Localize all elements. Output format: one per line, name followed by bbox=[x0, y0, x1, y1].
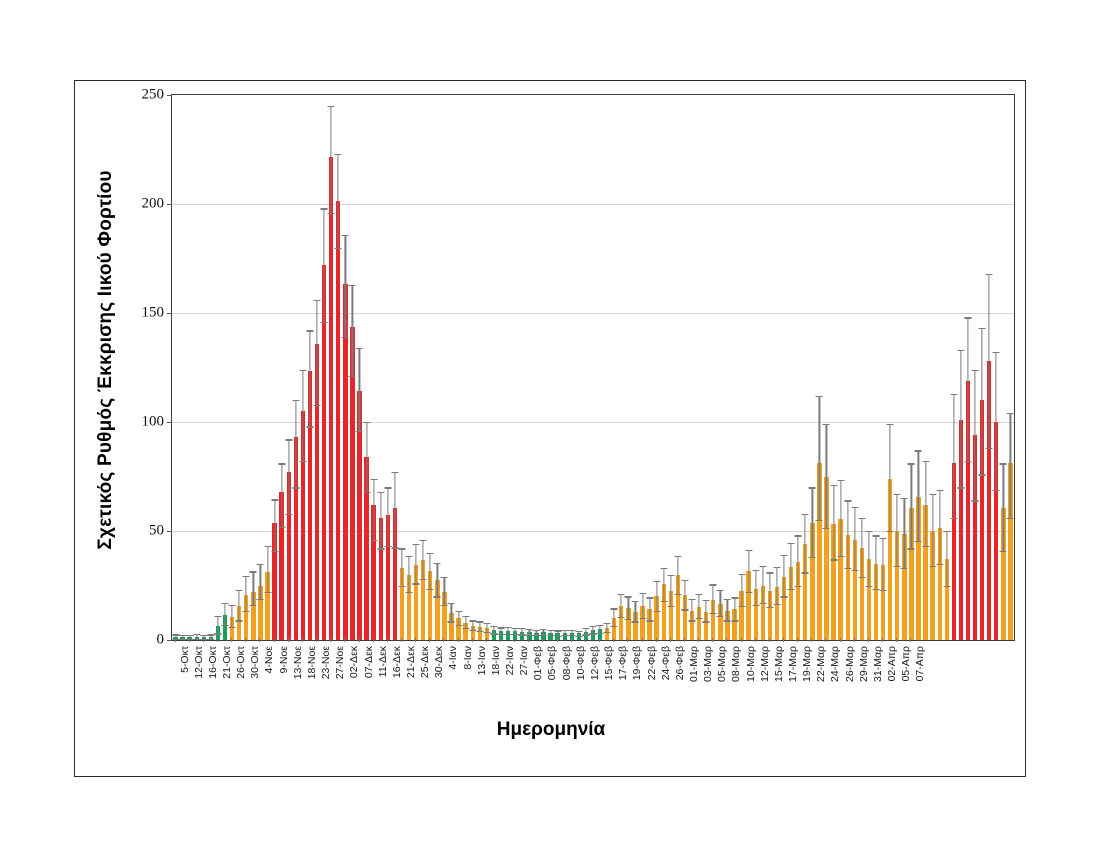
error-bar bbox=[260, 564, 261, 599]
error-cap-lower bbox=[441, 605, 448, 606]
error-cap-lower bbox=[696, 618, 703, 619]
error-cap-upper bbox=[222, 603, 229, 604]
error-cap-lower bbox=[738, 606, 745, 607]
error-cap-lower bbox=[887, 531, 894, 532]
error-cap-lower bbox=[490, 633, 497, 634]
error-cap-lower bbox=[915, 541, 922, 542]
bar-group bbox=[773, 95, 780, 640]
error-cap-lower bbox=[681, 609, 688, 610]
error-bar bbox=[783, 555, 784, 596]
error-cap-upper bbox=[830, 485, 837, 486]
x-tick-mark bbox=[769, 638, 770, 642]
error-bar bbox=[309, 330, 310, 426]
bar-group bbox=[476, 95, 483, 640]
error-cap-lower bbox=[533, 635, 540, 636]
error-cap-lower bbox=[200, 639, 207, 640]
error-bar bbox=[918, 450, 919, 540]
x-tick-mark bbox=[443, 638, 444, 642]
bar-group bbox=[469, 95, 476, 640]
error-cap-lower bbox=[773, 604, 780, 605]
x-tick-label: 22-Ιαν bbox=[504, 646, 516, 675]
chart-frame: Σχετικός Ρυθμός Έκκρισης Ιικού Φορτίου 0… bbox=[74, 80, 1026, 777]
x-tick-mark bbox=[656, 638, 657, 642]
error-cap-lower bbox=[420, 579, 427, 580]
bar-group bbox=[547, 95, 554, 640]
bar-group bbox=[497, 95, 504, 640]
error-bar bbox=[338, 154, 339, 248]
x-tick-label: 10-Φεβ bbox=[575, 646, 587, 680]
error-bar bbox=[295, 400, 296, 487]
error-cap-lower bbox=[625, 619, 632, 620]
x-tick-label: 13-Ιαν bbox=[476, 646, 488, 675]
error-cap-upper bbox=[639, 593, 646, 594]
x-tick-mark bbox=[401, 638, 402, 642]
x-tick-mark bbox=[542, 638, 543, 642]
error-cap-upper bbox=[752, 570, 759, 571]
error-cap-upper bbox=[236, 590, 243, 591]
bar-group bbox=[278, 95, 285, 640]
x-tick-mark bbox=[755, 638, 756, 642]
error-cap-upper bbox=[632, 601, 639, 602]
error-cap-upper bbox=[455, 611, 462, 612]
error-cap-lower bbox=[328, 213, 335, 214]
error-cap-upper bbox=[193, 634, 200, 635]
error-cap-lower bbox=[823, 528, 830, 529]
bar-group bbox=[936, 95, 943, 640]
x-tick-label: 9-Νοε bbox=[278, 646, 290, 673]
error-bar bbox=[798, 535, 799, 585]
error-cap-upper bbox=[873, 535, 880, 536]
bar-group bbox=[894, 95, 901, 640]
x-tick-mark bbox=[175, 638, 176, 642]
chart-screenshot: Σχετικός Ρυθμός Έκκρισης Ιικού Φορτίου 0… bbox=[0, 0, 1100, 850]
error-bar bbox=[607, 623, 608, 632]
error-cap-upper bbox=[936, 490, 943, 491]
bar-group bbox=[986, 95, 993, 640]
error-cap-lower bbox=[901, 568, 908, 569]
error-cap-lower bbox=[929, 566, 936, 567]
error-cap-lower bbox=[788, 589, 795, 590]
error-cap-lower bbox=[299, 461, 306, 462]
error-bar bbox=[982, 328, 983, 474]
error-bar bbox=[854, 507, 855, 570]
x-axis-title: Ημερομηνία bbox=[75, 719, 1027, 741]
error-cap-lower bbox=[894, 566, 901, 567]
x-tick-mark bbox=[203, 638, 204, 642]
error-cap-lower bbox=[653, 611, 660, 612]
bar-group bbox=[568, 95, 575, 640]
x-tick-mark bbox=[344, 638, 345, 642]
error-cap-upper bbox=[505, 627, 512, 628]
error-cap-upper bbox=[229, 605, 236, 606]
x-tick-label: 4-Νοε bbox=[263, 646, 275, 673]
error-cap-upper bbox=[526, 629, 533, 630]
error-bar bbox=[953, 394, 954, 518]
error-cap-upper bbox=[469, 620, 476, 621]
error-cap-upper bbox=[667, 575, 674, 576]
error-cap-upper bbox=[611, 608, 618, 609]
bar-group bbox=[328, 95, 335, 640]
error-cap-lower bbox=[335, 248, 342, 249]
bar-group bbox=[349, 95, 356, 640]
error-cap-lower bbox=[986, 448, 993, 449]
error-cap-lower bbox=[710, 613, 717, 614]
x-tick-label: 19-Μαρ bbox=[801, 646, 813, 682]
error-cap-upper bbox=[915, 450, 922, 451]
x-tick-mark bbox=[330, 638, 331, 642]
error-cap-upper bbox=[413, 544, 420, 545]
x-tick-mark bbox=[825, 638, 826, 642]
bar-group bbox=[391, 95, 398, 640]
error-bar bbox=[769, 572, 770, 607]
bar-group bbox=[781, 95, 788, 640]
x-tick-label: 19-Φεβ bbox=[631, 646, 643, 680]
error-cap-lower bbox=[979, 474, 986, 475]
error-cap-lower bbox=[922, 546, 929, 547]
error-cap-lower bbox=[554, 636, 561, 637]
x-tick-mark bbox=[684, 638, 685, 642]
bar-group bbox=[632, 95, 639, 640]
bar-group bbox=[766, 95, 773, 640]
error-cap-upper bbox=[200, 635, 207, 636]
x-tick-mark bbox=[288, 638, 289, 642]
error-cap-upper bbox=[533, 630, 540, 631]
bar-group bbox=[696, 95, 703, 640]
error-bar bbox=[366, 422, 367, 492]
error-cap-lower bbox=[717, 616, 724, 617]
x-tick-label: 13-Νοε bbox=[292, 646, 304, 679]
x-tick-label: 26-Μαρ bbox=[844, 646, 856, 682]
error-cap-upper bbox=[214, 616, 221, 617]
error-cap-upper bbox=[653, 581, 660, 582]
error-cap-upper bbox=[908, 463, 915, 464]
x-tick-label: 10-Μαρ bbox=[745, 646, 757, 682]
bar-group bbox=[533, 95, 540, 640]
error-cap-upper bbox=[965, 317, 972, 318]
error-cap-lower bbox=[589, 633, 596, 634]
bar-group bbox=[526, 95, 533, 640]
error-cap-upper bbox=[519, 628, 526, 629]
error-cap-upper bbox=[689, 599, 696, 600]
error-cap-upper bbox=[278, 463, 285, 464]
error-cap-lower bbox=[349, 376, 356, 377]
error-cap-lower bbox=[547, 635, 554, 636]
error-cap-lower bbox=[356, 431, 363, 432]
error-cap-lower bbox=[844, 568, 851, 569]
error-cap-upper bbox=[950, 394, 957, 395]
error-bar bbox=[868, 531, 869, 586]
error-cap-upper bbox=[561, 630, 568, 631]
x-tick-mark bbox=[783, 638, 784, 642]
bar-group bbox=[363, 95, 370, 640]
bar-group bbox=[342, 95, 349, 640]
error-cap-upper bbox=[788, 543, 795, 544]
error-cap-upper bbox=[398, 548, 405, 549]
x-tick-mark bbox=[712, 638, 713, 642]
x-tick-label: 17-Φεβ bbox=[617, 646, 629, 680]
error-cap-upper bbox=[745, 550, 752, 551]
x-tick-mark bbox=[627, 638, 628, 642]
bar-group bbox=[972, 95, 979, 640]
bar-group bbox=[455, 95, 462, 640]
bar-group bbox=[858, 95, 865, 640]
error-cap-lower bbox=[413, 583, 420, 584]
x-tick-label: 24-Φεβ bbox=[660, 646, 672, 680]
error-cap-lower bbox=[703, 621, 710, 622]
x-tick-label: 02-Απρ bbox=[886, 646, 898, 681]
x-tick-mark bbox=[217, 638, 218, 642]
error-bar bbox=[416, 544, 417, 583]
error-cap-upper bbox=[349, 285, 356, 286]
error-cap-upper bbox=[243, 576, 250, 577]
error-cap-upper bbox=[172, 634, 179, 635]
error-cap-lower bbox=[604, 632, 611, 633]
bar-group bbox=[434, 95, 441, 640]
error-cap-upper bbox=[993, 352, 1000, 353]
bar-group bbox=[703, 95, 710, 640]
error-cap-upper bbox=[257, 564, 264, 565]
error-cap-upper bbox=[901, 498, 908, 499]
error-cap-lower bbox=[908, 548, 915, 549]
error-cap-upper bbox=[589, 626, 596, 627]
bar-group bbox=[745, 95, 752, 640]
x-tick-mark bbox=[528, 638, 529, 642]
error-bar bbox=[720, 590, 721, 616]
bar-group bbox=[172, 95, 179, 640]
error-cap-lower bbox=[1007, 518, 1014, 519]
x-tick-label: 30-Οκτ bbox=[249, 646, 261, 679]
error-cap-upper bbox=[391, 472, 398, 473]
error-cap-lower bbox=[752, 605, 759, 606]
bar-group bbox=[788, 95, 795, 640]
error-cap-upper bbox=[377, 492, 384, 493]
error-bar bbox=[458, 611, 459, 625]
bar-group bbox=[887, 95, 894, 640]
x-tick-label: 22-Μαρ bbox=[815, 646, 827, 682]
y-tick-label: 50 bbox=[149, 523, 164, 540]
error-cap-upper bbox=[979, 328, 986, 329]
error-bar bbox=[649, 597, 650, 620]
error-cap-lower bbox=[243, 611, 250, 612]
error-cap-upper bbox=[554, 630, 561, 631]
error-bar bbox=[380, 492, 381, 549]
error-bar bbox=[621, 594, 622, 617]
error-cap-upper bbox=[717, 590, 724, 591]
error-cap-upper bbox=[420, 540, 427, 541]
bar-group bbox=[306, 95, 313, 640]
x-tick-mark bbox=[670, 638, 671, 642]
error-cap-upper bbox=[618, 594, 625, 595]
bar-group bbox=[908, 95, 915, 640]
error-bar bbox=[373, 479, 374, 540]
error-cap-lower bbox=[498, 634, 505, 635]
bar-group bbox=[738, 95, 745, 640]
error-bar bbox=[826, 424, 827, 528]
error-bar bbox=[628, 596, 629, 619]
error-cap-upper bbox=[250, 571, 257, 572]
error-cap-lower bbox=[406, 592, 413, 593]
x-tick-mark bbox=[472, 638, 473, 642]
bar-group bbox=[321, 95, 328, 640]
bar-group bbox=[519, 95, 526, 640]
error-cap-lower bbox=[448, 621, 455, 622]
error-cap-upper bbox=[674, 556, 681, 557]
error-cap-upper bbox=[894, 494, 901, 495]
error-cap-upper bbox=[597, 625, 604, 626]
error-cap-upper bbox=[710, 584, 717, 585]
error-bar bbox=[946, 531, 947, 586]
error-cap-upper bbox=[880, 538, 887, 539]
error-bar bbox=[684, 580, 685, 609]
x-tick-mark bbox=[415, 638, 416, 642]
error-cap-lower bbox=[830, 559, 837, 560]
bar-group bbox=[922, 95, 929, 640]
error-cap-lower bbox=[993, 490, 1000, 491]
error-bar bbox=[614, 608, 615, 625]
bar-group bbox=[795, 95, 802, 640]
error-cap-upper bbox=[434, 563, 441, 564]
bar-group bbox=[427, 95, 434, 640]
error-cap-lower bbox=[434, 596, 441, 597]
error-cap-upper bbox=[314, 300, 321, 301]
error-bar bbox=[387, 487, 388, 546]
error-bar bbox=[967, 317, 968, 461]
error-bar bbox=[302, 370, 303, 462]
x-tick-label: 21-Οκτ bbox=[221, 646, 233, 679]
error-bar bbox=[232, 605, 233, 627]
error-bar bbox=[359, 348, 360, 431]
error-cap-lower bbox=[391, 547, 398, 548]
x-tick-mark bbox=[811, 638, 812, 642]
error-cap-lower bbox=[880, 590, 887, 591]
x-tick-label: 12-Οκτ bbox=[193, 646, 205, 679]
error-cap-lower bbox=[292, 487, 299, 488]
y-tick-label: 100 bbox=[142, 414, 165, 431]
bar-group bbox=[915, 95, 922, 640]
error-cap-lower bbox=[512, 634, 519, 635]
x-tick-label: 02-Δεκ bbox=[348, 646, 360, 678]
error-bar bbox=[960, 350, 961, 487]
error-bar bbox=[939, 490, 940, 564]
bar-group bbox=[724, 95, 731, 640]
error-cap-upper bbox=[731, 597, 738, 598]
x-tick-mark bbox=[189, 638, 190, 642]
bar-group bbox=[398, 95, 405, 640]
error-bar bbox=[791, 543, 792, 589]
error-cap-lower bbox=[611, 626, 618, 627]
error-cap-lower bbox=[519, 634, 526, 635]
error-cap-upper bbox=[384, 487, 391, 488]
error-cap-lower bbox=[851, 570, 858, 571]
bar-group bbox=[731, 95, 738, 640]
error-cap-upper bbox=[802, 514, 809, 515]
error-cap-lower bbox=[306, 426, 313, 427]
error-bar bbox=[486, 623, 487, 632]
error-bar bbox=[635, 601, 636, 622]
x-tick-mark bbox=[741, 638, 742, 642]
x-axis-labels: 5-Οκτ12-Οκτ16-Οκτ21-Οκτ26-Οκτ30-Οκτ4-Νοε… bbox=[171, 643, 1015, 713]
error-cap-upper bbox=[887, 424, 894, 425]
error-cap-lower bbox=[384, 546, 391, 547]
error-cap-lower bbox=[207, 639, 214, 640]
bar-group bbox=[901, 95, 908, 640]
error-bar bbox=[274, 499, 275, 550]
error-cap-upper bbox=[929, 494, 936, 495]
error-bar bbox=[663, 568, 664, 601]
error-cap-upper bbox=[646, 597, 653, 598]
bar-group bbox=[667, 95, 674, 640]
error-cap-upper bbox=[696, 594, 703, 595]
error-cap-upper bbox=[186, 635, 193, 636]
bar-group bbox=[186, 95, 193, 640]
error-cap-upper bbox=[406, 556, 413, 557]
error-bar bbox=[472, 620, 473, 630]
error-cap-upper bbox=[448, 603, 455, 604]
error-bar bbox=[840, 480, 841, 556]
bar-group bbox=[236, 95, 243, 640]
error-bar bbox=[974, 370, 975, 501]
error-cap-lower bbox=[469, 630, 476, 631]
error-cap-lower bbox=[745, 592, 752, 593]
error-bar bbox=[699, 594, 700, 618]
error-cap-lower bbox=[526, 635, 533, 636]
error-cap-upper bbox=[264, 546, 271, 547]
bar-group bbox=[964, 95, 971, 640]
x-tick-mark bbox=[359, 638, 360, 642]
error-cap-lower bbox=[809, 557, 816, 558]
x-tick-label: 18-Ιαν bbox=[490, 646, 502, 675]
x-tick-label: 22-Φεβ bbox=[646, 646, 658, 680]
error-cap-upper bbox=[766, 572, 773, 573]
error-cap-lower bbox=[873, 589, 880, 590]
error-cap-lower bbox=[314, 405, 321, 406]
error-cap-lower bbox=[229, 627, 236, 628]
x-tick-label: 29-Μαρ bbox=[858, 646, 870, 682]
x-tick-label: 16-Δεκ bbox=[391, 646, 403, 678]
error-bar bbox=[805, 514, 806, 573]
error-cap-lower bbox=[172, 639, 179, 640]
error-cap-upper bbox=[179, 635, 186, 636]
error-cap-upper bbox=[582, 628, 589, 629]
x-tick-label: 12-Μαρ bbox=[759, 646, 771, 682]
error-cap-upper bbox=[328, 106, 335, 107]
bar-group bbox=[179, 95, 186, 640]
error-cap-upper bbox=[363, 422, 370, 423]
error-cap-upper bbox=[441, 577, 448, 578]
x-tick-label: 01-Μαρ bbox=[688, 646, 700, 682]
error-cap-lower bbox=[618, 617, 625, 618]
error-cap-upper bbox=[271, 499, 278, 500]
bar-group bbox=[490, 95, 497, 640]
error-cap-lower bbox=[342, 337, 349, 338]
bar-group bbox=[200, 95, 207, 640]
bar-group bbox=[639, 95, 646, 640]
bar-group bbox=[462, 95, 469, 640]
error-cap-upper bbox=[724, 599, 731, 600]
x-tick-label: 5-Οκτ bbox=[179, 646, 191, 673]
error-cap-upper bbox=[370, 479, 377, 480]
bar-group bbox=[1007, 95, 1014, 640]
error-bar bbox=[239, 590, 240, 621]
error-cap-lower bbox=[285, 514, 292, 515]
error-bar bbox=[755, 570, 756, 605]
bar-group bbox=[285, 95, 292, 640]
x-tick-mark bbox=[316, 638, 317, 642]
bar-group bbox=[979, 95, 986, 640]
bar-group bbox=[823, 95, 830, 640]
bar-group bbox=[851, 95, 858, 640]
error-cap-upper bbox=[321, 208, 328, 209]
